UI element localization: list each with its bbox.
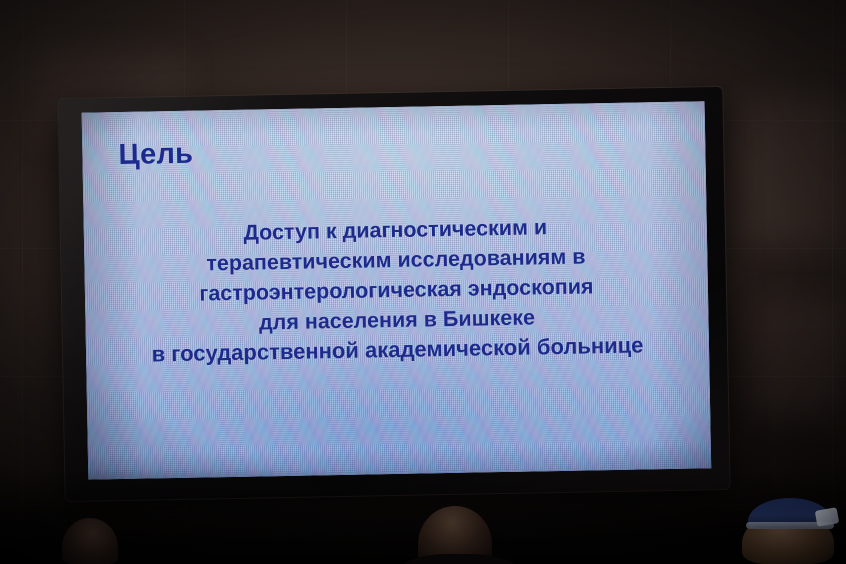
slide-content: Цель Доступ к диагностическим и терапевт…: [82, 101, 712, 479]
presentation-photo: Цель Доступ к диагностическим и терапевт…: [0, 0, 846, 564]
presentation-display[interactable]: Цель Доступ к диагностическим и терапевт…: [58, 87, 729, 501]
display-panel[interactable]: Цель Доступ к диагностическим и терапевт…: [82, 101, 712, 479]
slide-title: Цель: [118, 138, 193, 172]
wall-blotch: [756, 300, 846, 420]
slide-body: Доступ к диагностическим и терапевтическ…: [84, 209, 710, 370]
wall-blotch: [742, 96, 842, 246]
